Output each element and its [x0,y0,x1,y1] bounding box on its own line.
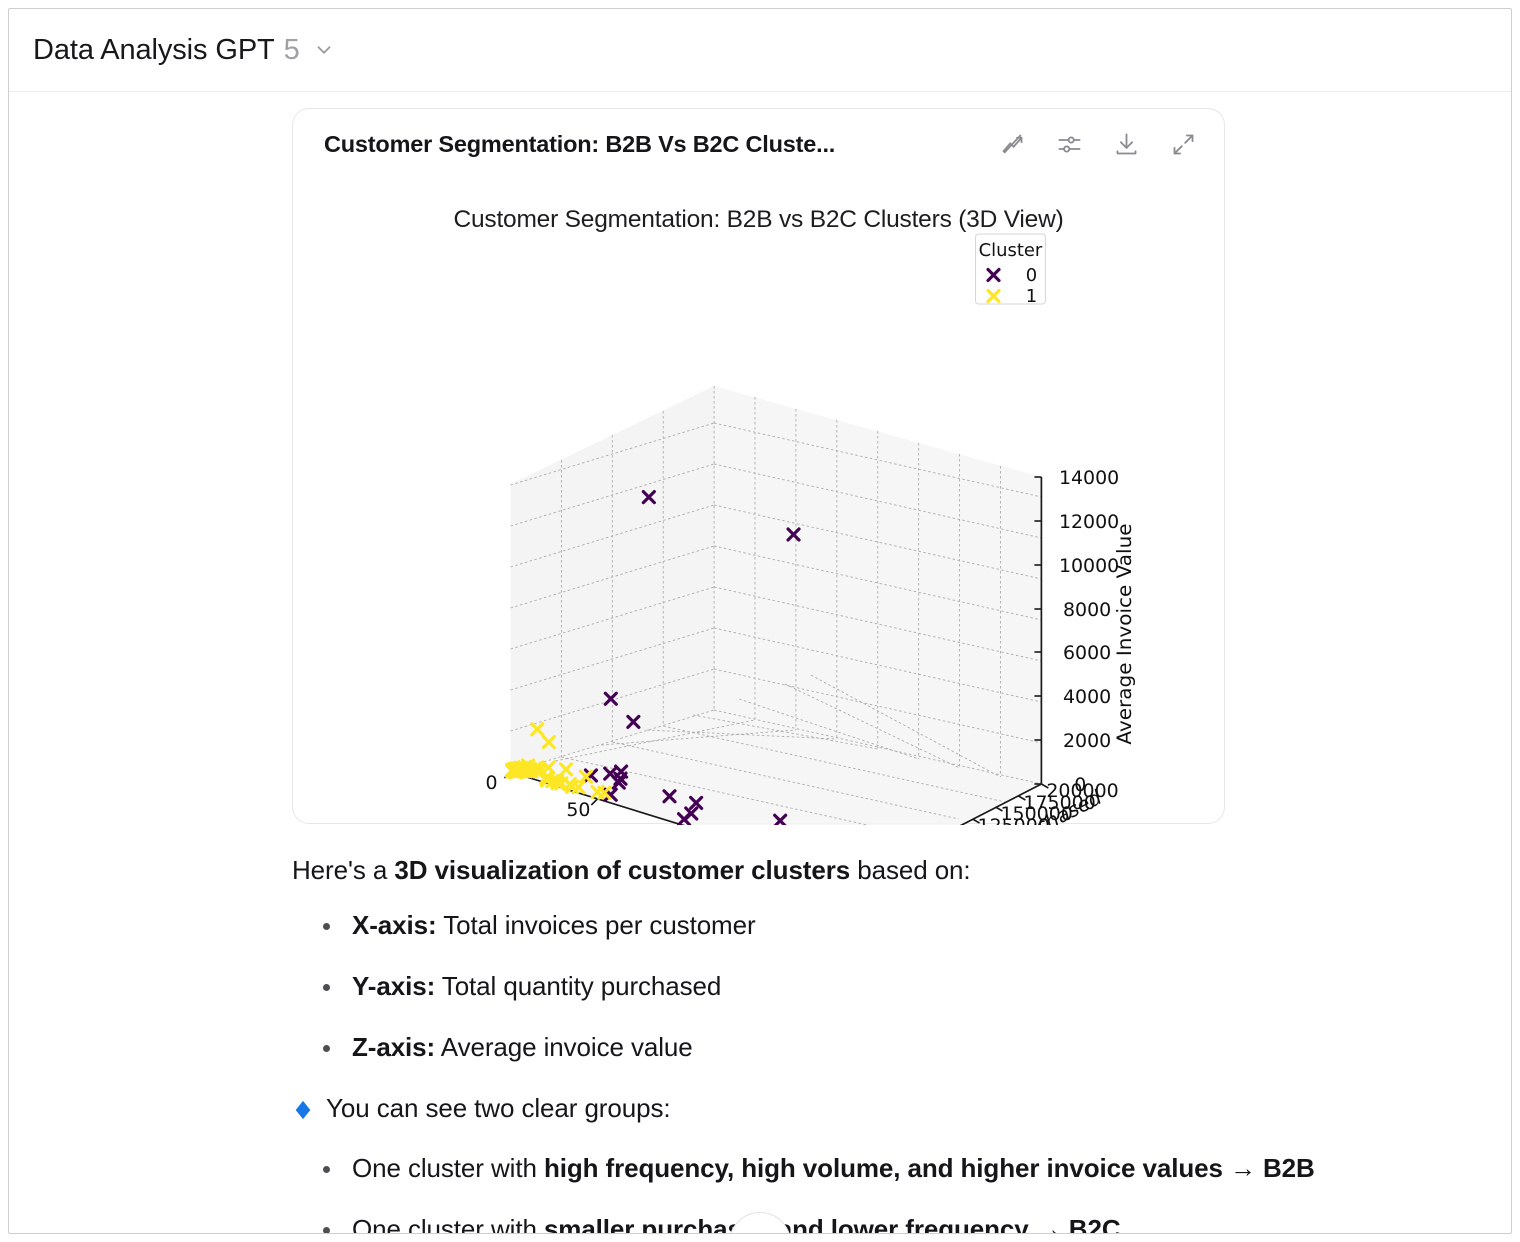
chevron-down-icon[interactable] [313,39,335,61]
z-tick-labels: 0 2000 4000 6000 8000 10000 12000 14000 [1059,467,1119,796]
group-bullet-prefix: One cluster with [352,1214,544,1234]
legend-title: Cluster [979,240,1043,261]
blue-diamond-icon [292,1097,314,1128]
app-header: Data Analysis GPT 5 [9,9,1511,92]
edit-chart-icon[interactable] [997,129,1027,159]
axis-bullet-text: Total invoices per customer [437,910,756,940]
answer-lead: Here's a 3D visualization of customer cl… [292,852,1472,890]
list-item: One cluster with smaller purchases and l… [292,1211,1472,1234]
groups-intro-text: You can see two clear groups: [326,1093,670,1124]
plot-area: Customer Segmentation: B2B vs B2C Cluste… [293,179,1224,825]
axis-bullet-text: Total quantity purchased [435,971,721,1001]
list-item: Y-axis: Total quantity purchased [292,968,1472,1005]
plot-panes [511,386,1042,825]
group-bullet-bold: smaller purchases and lower frequency → … [544,1214,1121,1234]
chart-card-title: Customer Segmentation: B2B Vs B2C Cluste… [324,131,835,158]
svg-text:50: 50 [566,799,590,821]
group-bullet-prefix: One cluster with [352,1153,544,1183]
assistant-answer: Here's a 3D visualization of customer cl… [292,852,1472,1234]
svg-text:0: 0 [486,772,498,794]
axis-bullet-list: X-axis: Total invoices per customerY-axi… [292,907,1472,1066]
groups-intro-line: You can see two clear groups: [292,1093,1472,1128]
axis-bullet-label: Z-axis: [352,1032,435,1062]
z-axis-label: Average Invoice Value [1112,523,1136,744]
axis-bullet-label: Y-axis: [352,971,435,1001]
svg-text:12000: 12000 [1059,511,1119,533]
download-icon[interactable] [1111,129,1141,159]
chart-legend: Cluster 0 1 [976,234,1046,307]
sliders-settings-icon[interactable] [1054,129,1084,159]
svg-text:2000: 2000 [1063,730,1111,752]
app-window: Data Analysis GPT 5 Customer Segmentatio… [8,8,1512,1234]
legend-entry-0: 0 [1026,265,1037,286]
svg-text:8000: 8000 [1063,599,1111,621]
svg-text:6000: 6000 [1063,642,1111,664]
list-item: Z-axis: Average invoice value [292,1029,1472,1066]
expand-icon[interactable] [1168,129,1198,159]
axis-bullet-text: Average invoice value [435,1032,693,1062]
svg-text:14000: 14000 [1059,467,1119,489]
group-bullet-bold: high frequency, high volume, and higher … [544,1153,1315,1183]
svg-text:10000: 10000 [1059,555,1119,577]
chart-card-actions [997,129,1198,159]
scatter3d-plot: 0 50 100 150 200 Total Invoices 0 25000 … [293,179,1224,825]
page-title: Data Analysis GPT [33,34,275,67]
list-item: X-axis: Total invoices per customer [292,907,1472,944]
list-item: One cluster with high frequency, high vo… [292,1150,1472,1187]
chart-card: Customer Segmentation: B2B Vs B2C Cluste… [292,108,1225,824]
lead-bold: 3D visualization of customer clusters [394,855,850,885]
svg-text:0: 0 [1074,774,1086,796]
model-version-label: 5 [284,34,300,67]
axis-bullet-label: X-axis: [352,910,437,940]
legend-entry-1: 1 [1026,286,1037,307]
lead-prefix: Here's a [292,855,394,885]
chart-card-header: Customer Segmentation: B2B Vs B2C Cluste… [293,109,1224,179]
svg-text:4000: 4000 [1063,686,1111,708]
lead-suffix: based on: [850,855,970,885]
group-bullet-list: One cluster with high frequency, high vo… [292,1150,1472,1234]
